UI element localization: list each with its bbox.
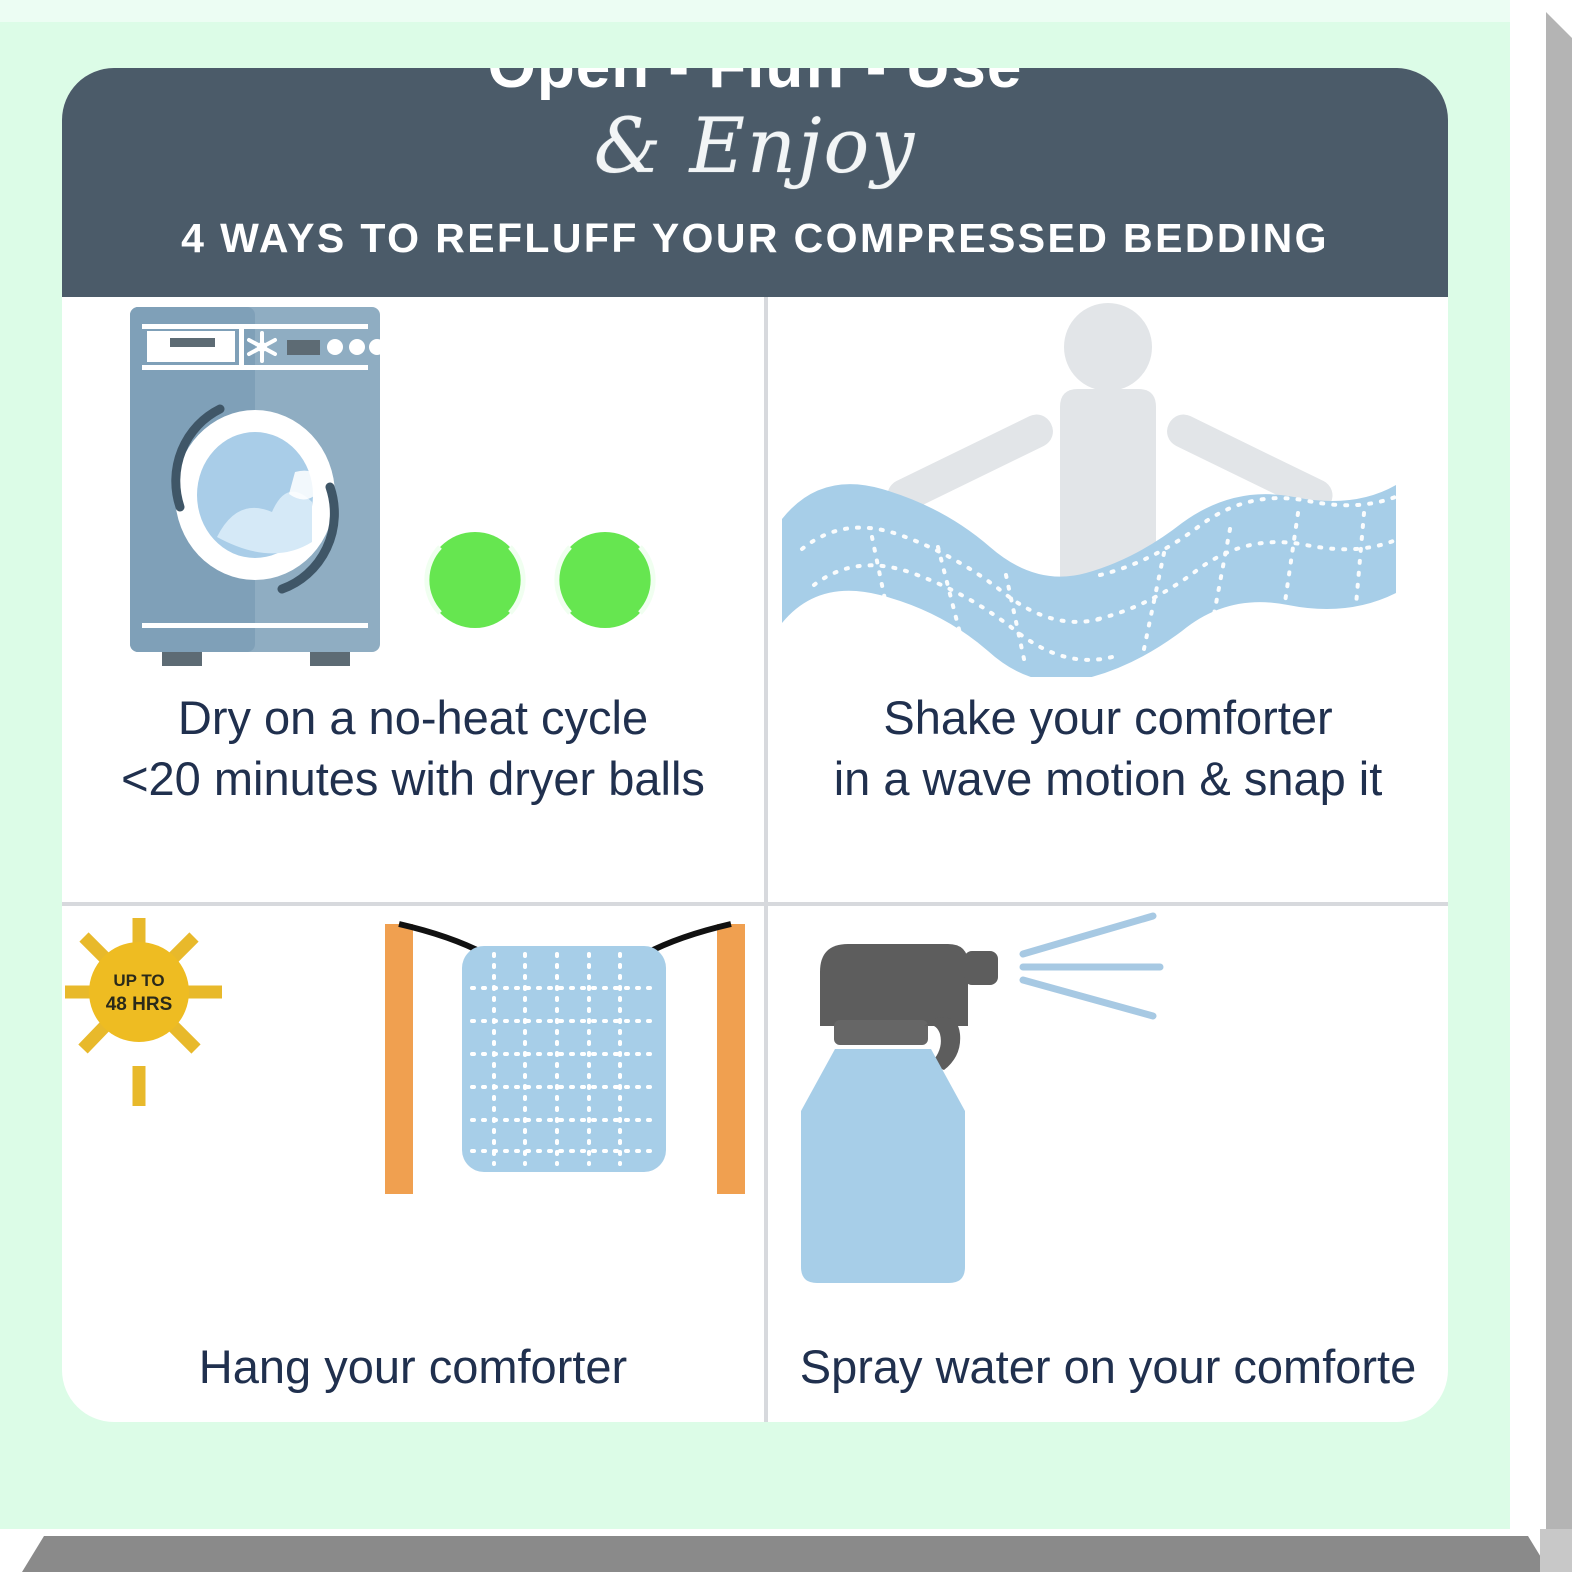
vertical-scrollbar[interactable] <box>1540 0 1572 1529</box>
washing-machine-icon <box>62 297 764 682</box>
screenshot-viewport: Open - Fluff - Use & Enjoy 4 WAYS TO REF… <box>0 0 1572 1572</box>
caption-line: in a wave motion & snap it <box>768 748 1448 809</box>
panel-dryer: Dry on a no-heat cycle <20 minutes with … <box>62 297 764 902</box>
panel-shake: Shake your comforter in a wave motion & … <box>768 297 1448 902</box>
horizontal-scrollbar[interactable] <box>0 1529 1572 1572</box>
page-subtitle: 4 WAYS TO REFLUFF YOUR COMPRESSED BEDDIN… <box>62 215 1448 262</box>
panel-shake-caption: Shake your comforter in a wave motion & … <box>768 687 1448 809</box>
dryer-ball <box>557 532 653 628</box>
hanging-comforter-icon: UP TO 48 HRS <box>62 906 764 1341</box>
panel-dryer-caption: Dry on a no-heat cycle <20 minutes with … <box>62 687 764 809</box>
panel-spray-caption: Spray water on your comforte <box>768 1336 1448 1397</box>
title-script: & Enjoy <box>62 106 1448 186</box>
caption-line: Shake your comforter <box>768 687 1448 748</box>
person-shaking-comforter-icon <box>768 297 1448 682</box>
dryer-ball <box>427 532 523 628</box>
page-background-top-fade <box>0 0 1510 22</box>
caption-line: Hang your comforter <box>62 1336 764 1397</box>
page-title: Open - Fluff - Use <box>62 68 1448 98</box>
caption-line: Spray water on your comforte <box>768 1336 1448 1397</box>
scrollbar-corner <box>1540 1529 1572 1572</box>
horizontal-scrollbar-thumb[interactable] <box>22 1536 1550 1572</box>
caption-line: <20 minutes with dryer balls <box>62 748 764 809</box>
spray-bottle-icon <box>768 906 1448 1341</box>
sun-badge-line2: 48 HRS <box>106 994 173 1015</box>
panel-hang-caption: Hang your comforter <box>62 1336 764 1397</box>
title-block: Open - Fluff - Use <box>62 68 1448 98</box>
panel-hang: UP TO 48 HRS <box>62 906 764 1422</box>
infographic-card: Open - Fluff - Use & Enjoy 4 WAYS TO REF… <box>62 68 1448 1422</box>
panel-spray: Spray water on your comforte <box>768 906 1448 1422</box>
vertical-scrollbar-thumb[interactable] <box>1546 12 1572 1529</box>
sun-badge-line1: UP TO <box>113 971 164 990</box>
infographic-header: Open - Fluff - Use & Enjoy 4 WAYS TO REF… <box>62 68 1448 297</box>
steps-grid: Dry on a no-heat cycle <20 minutes with … <box>62 297 1448 1422</box>
caption-line: Dry on a no-heat cycle <box>62 687 764 748</box>
